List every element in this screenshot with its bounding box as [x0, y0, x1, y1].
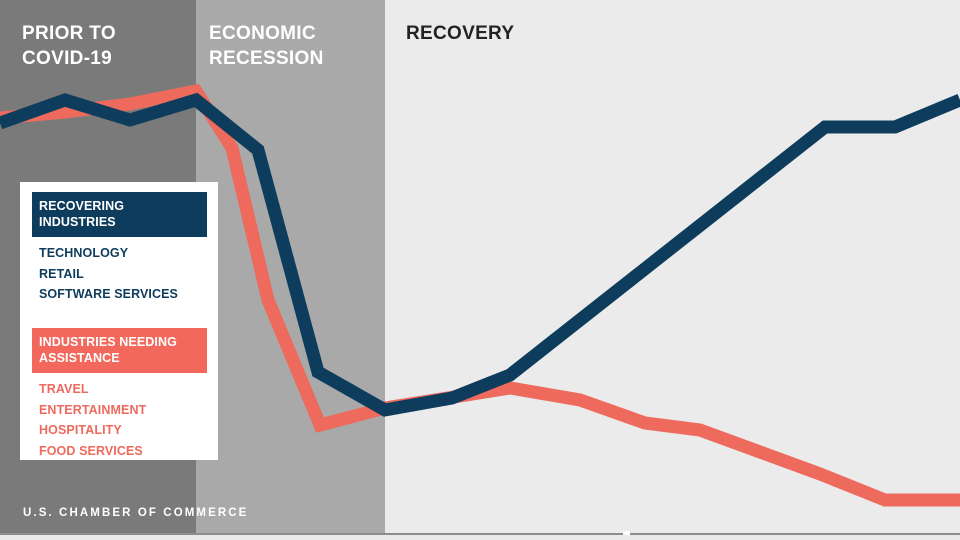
legend-item-travel: TRAVEL: [39, 379, 207, 400]
legend-item-food-services: FOOD SERVICES: [39, 441, 207, 462]
legend-group-recovering-industries: RECOVERING INDUSTRIES TECHNOLOGY RETAIL …: [32, 192, 207, 305]
footer-attribution: U.S. CHAMBER OF COMMERCE: [23, 507, 248, 519]
legend-header-recovering-industries: RECOVERING INDUSTRIES: [32, 192, 207, 237]
legend-items-recovering-industries: TECHNOLOGY RETAIL SOFTWARE SERVICES: [32, 243, 207, 305]
legend-item-hospitality: HOSPITALITY: [39, 420, 207, 441]
legend-item-entertainment: ENTERTAINMENT: [39, 400, 207, 421]
baseline-notch-marker: [623, 531, 630, 535]
legend-item-technology: TECHNOLOGY: [39, 243, 207, 264]
legend-item-software-services: SOFTWARE SERVICES: [39, 284, 207, 305]
legend-items-industries-needing-assistance: TRAVEL ENTERTAINMENT HOSPITALITY FOOD SE…: [32, 379, 207, 461]
baseline-strip: [0, 533, 960, 540]
legend-header-industries-needing-assistance: INDUSTRIES NEEDING ASSISTANCE: [32, 328, 207, 373]
legend-group-industries-needing-assistance: INDUSTRIES NEEDING ASSISTANCE TRAVEL ENT…: [32, 328, 207, 461]
legend-item-retail: RETAIL: [39, 264, 207, 285]
infographic-canvas: PRIOR TO COVID-19 ECONOMIC RECESSION REC…: [0, 0, 960, 540]
chart-legend: RECOVERING INDUSTRIES TECHNOLOGY RETAIL …: [20, 182, 218, 460]
